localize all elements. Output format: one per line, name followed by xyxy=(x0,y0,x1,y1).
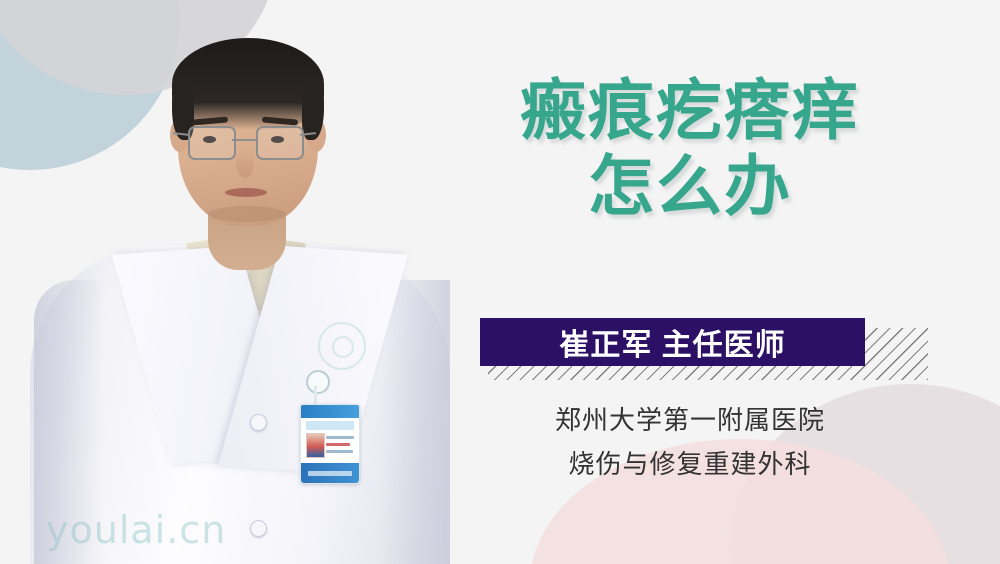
title-line-2: 怎么办 xyxy=(470,148,910,224)
hair-side-right xyxy=(302,78,324,140)
id-badge-text-line xyxy=(326,443,350,446)
affiliation-block: 郑州大学第一附属医院 烧伤与修复重建外科 xyxy=(470,398,910,486)
doctor-name-and-rank: 崔正军 主任医师 xyxy=(559,320,785,364)
chin-shadow xyxy=(208,206,286,222)
id-badge-header xyxy=(301,405,359,418)
eyeglasses-lens-right xyxy=(256,126,304,160)
coat-button xyxy=(250,414,267,431)
id-badge-photo xyxy=(306,433,325,458)
id-badge-footer-text xyxy=(308,471,352,476)
title-block: 瘢痕疙瘩痒 怎么办 xyxy=(470,72,910,224)
coat-shadow-right xyxy=(380,280,450,564)
id-badge-text-line xyxy=(326,436,354,439)
id-badge-footer xyxy=(301,463,359,483)
doctor-name-banner: 崔正军 主任医师 xyxy=(480,318,865,366)
coat-shadow-left xyxy=(34,280,104,564)
id-badge-text-line xyxy=(326,450,353,453)
coat-button xyxy=(250,520,267,537)
doctor-portrait xyxy=(0,0,470,564)
eyeglasses-lens-left xyxy=(188,126,236,160)
id-badge xyxy=(300,404,360,484)
title-line-1: 瘢痕疙瘩痒 xyxy=(470,72,910,148)
hospital-logo-embroidery-icon xyxy=(318,322,366,370)
mouth xyxy=(225,188,267,197)
hospital-name: 郑州大学第一附属医院 xyxy=(470,398,910,442)
doctor-name-banner-wrapper: 崔正军 主任医师 xyxy=(480,318,930,380)
nose xyxy=(236,148,254,178)
video-thumbnail-card: 瘢痕疙瘩痒 怎么办 崔正军 主任医师 郑州大学第一附属医院 烧伤与修复重建外科 … xyxy=(0,0,1000,564)
content-column: 瘢痕疙瘩痒 怎么办 崔正军 主任医师 郑州大学第一附属医院 烧伤与修复重建外科 xyxy=(470,0,1000,564)
department-name: 烧伤与修复重建外科 xyxy=(470,442,910,486)
badge-clip-icon xyxy=(306,370,330,394)
id-badge-hospital-name xyxy=(306,421,354,430)
eyeglasses-bridge xyxy=(232,139,256,141)
